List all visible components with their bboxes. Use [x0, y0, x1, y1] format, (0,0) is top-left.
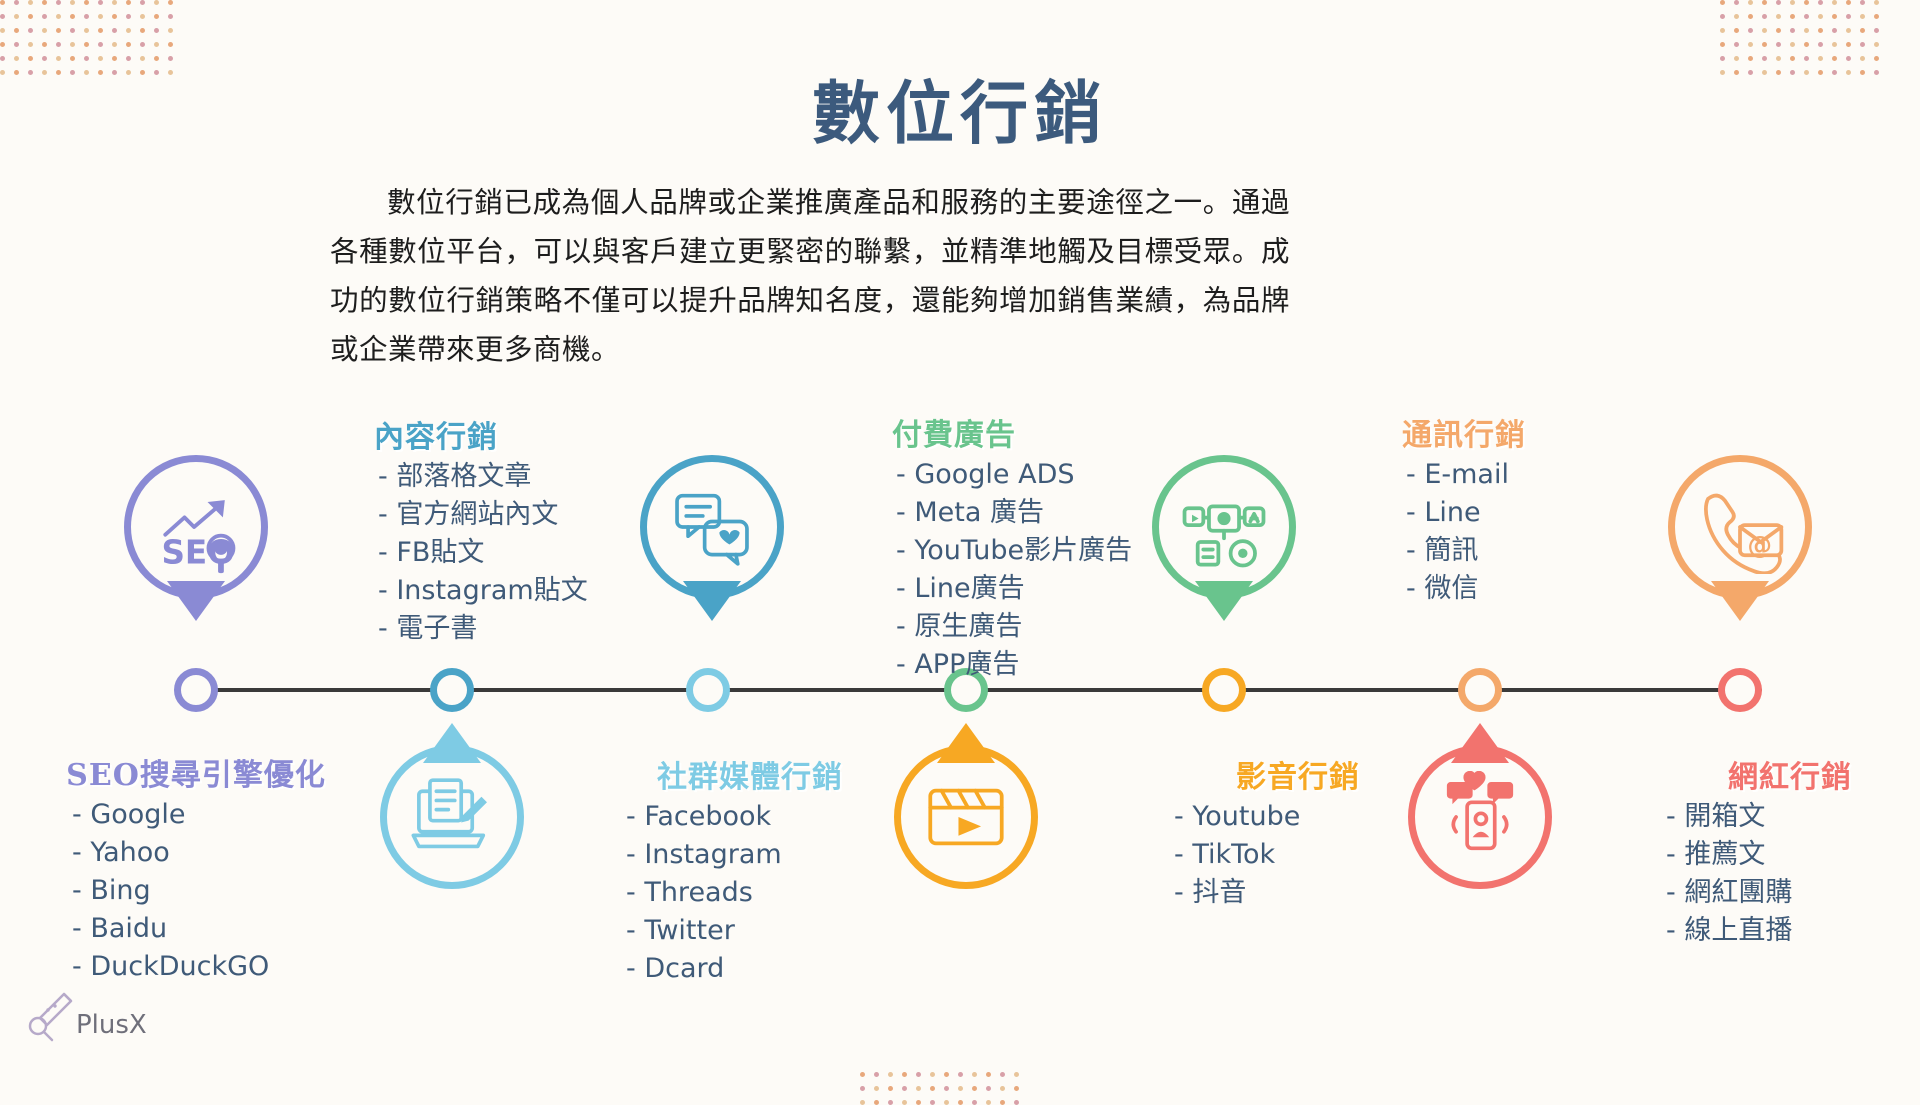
node-pin-video[interactable] [894, 745, 1038, 889]
list-item: 開箱文 [1666, 798, 1920, 836]
pin-tail-seo [167, 581, 225, 621]
node-list-social: FacebookInstagramThreadsTwitterDcard [600, 798, 900, 988]
list-item: Line廣告 [896, 570, 1192, 608]
node-heading-messaging: 通訊行銷 [1402, 410, 1702, 454]
list-item: 網紅團購 [1666, 874, 1920, 912]
pin-tail-video [937, 723, 995, 763]
list-item: Meta 廣告 [896, 494, 1192, 532]
node-heading-video: 影音行銷 [1148, 752, 1448, 796]
list-item: Twitter [626, 912, 900, 950]
list-item: Dcard [626, 950, 900, 988]
timeline-dot-video [1202, 668, 1246, 712]
svg-text:@: @ [1748, 530, 1772, 559]
node-list-content: 部落格文章官方網站內文FB貼文Instagram貼文電子書 [374, 458, 674, 648]
list-item: Threads [626, 874, 900, 912]
node-block-video: 影音行銷YoutubeTikTok抖音 [1148, 752, 1448, 912]
list-item: Google [72, 796, 346, 834]
node-pin-influencer[interactable] [1408, 745, 1552, 889]
node-pin-seo[interactable]: SEO [124, 455, 268, 599]
node-block-seo: SEO搜尋引擎優化GoogleYahooBingBaiduDuckDuckGO [46, 750, 346, 986]
pin-tail-content [683, 581, 741, 621]
list-item: 微信 [1406, 570, 1702, 608]
list-item: 原生廣告 [896, 608, 1192, 646]
node-block-paid-ads: 付費廣告Google ADSMeta 廣告YouTube影片廣告Line廣告原生… [892, 410, 1192, 684]
list-item: 簡訊 [1406, 532, 1702, 570]
timeline-dot-content [430, 668, 474, 712]
list-item: DuckDuckGO [72, 948, 346, 986]
pin-tail-social [423, 723, 481, 763]
list-item: 線上直播 [1666, 912, 1920, 950]
pin-tail-messaging [1711, 581, 1769, 621]
node-heading-content: 內容行銷 [374, 412, 674, 456]
node-list-messaging: E-mailLine簡訊微信 [1402, 456, 1702, 608]
node-block-influencer: 網紅行銷開箱文推薦文網紅團購線上直播 [1640, 752, 1920, 950]
node-heading-influencer: 網紅行銷 [1640, 752, 1920, 796]
seo-growth-icon: SEO [124, 455, 268, 599]
list-item: Bing [72, 872, 346, 910]
node-block-content: 內容行銷部落格文章官方網站內文FB貼文Instagram貼文電子書 [374, 412, 674, 648]
logo-wordmark: PlusX [76, 1010, 147, 1040]
infographic-canvas: 數位行銷 數位行銷已成為個人品牌或企業推廣產品和服務的主要途徑之一。通過各種數位… [0, 0, 1920, 1080]
intro-paragraph: 數位行銷已成為個人品牌或企業推廣產品和服務的主要途徑之一。通過各種數位平台，可以… [330, 178, 1290, 374]
node-list-seo: GoogleYahooBingBaiduDuckDuckGO [46, 796, 346, 986]
list-item: Instagram貼文 [378, 572, 674, 610]
list-item: Instagram [626, 836, 900, 874]
timeline-dot-social [686, 668, 730, 712]
list-item: 部落格文章 [378, 458, 674, 496]
list-item: Baidu [72, 910, 346, 948]
list-item: Google ADS [896, 456, 1192, 494]
list-item: APP廣告 [896, 646, 1192, 684]
timeline-dot-seo [174, 668, 218, 712]
list-item: 電子書 [378, 610, 674, 648]
list-item: 抖音 [1174, 874, 1448, 912]
list-item: 推薦文 [1666, 836, 1920, 874]
list-item: TikTok [1174, 836, 1448, 874]
page-title: 數位行銷 [0, 58, 1920, 157]
list-item: Line [1406, 494, 1702, 532]
node-block-social: 社群媒體行銷FacebookInstagramThreadsTwitterDca… [600, 752, 900, 988]
pin-tail-paid-ads [1195, 581, 1253, 621]
node-block-messaging: 通訊行銷E-mailLine簡訊微信 [1402, 410, 1702, 608]
list-item: Yahoo [72, 834, 346, 872]
list-item: Youtube [1174, 798, 1448, 836]
list-item: Facebook [626, 798, 900, 836]
pen-search-logo-icon [24, 984, 84, 1044]
node-list-video: YoutubeTikTok抖音 [1148, 798, 1448, 912]
node-list-influencer: 開箱文推薦文網紅團購線上直播 [1640, 798, 1920, 950]
node-pin-social[interactable] [380, 745, 524, 889]
node-heading-seo: SEO搜尋引擎優化 [46, 750, 346, 794]
node-heading-paid-ads: 付費廣告 [892, 410, 1192, 454]
video-play-icon [894, 745, 1038, 889]
timeline-dot-messaging [1458, 668, 1502, 712]
timeline-dot-influencer [1718, 668, 1762, 712]
pin-tail-influencer [1451, 723, 1509, 763]
node-list-paid-ads: Google ADSMeta 廣告YouTube影片廣告Line廣告原生廣告AP… [892, 456, 1192, 684]
list-item: 官方網站內文 [378, 496, 674, 534]
list-item: E-mail [1406, 456, 1702, 494]
brand-logo: PlusX [24, 984, 174, 1048]
mobile-live-icon [1408, 745, 1552, 889]
node-heading-social: 社群媒體行銷 [600, 752, 900, 796]
list-item: YouTube影片廣告 [896, 532, 1192, 570]
list-item: FB貼文 [378, 534, 674, 572]
laptop-writing-icon [380, 745, 524, 889]
